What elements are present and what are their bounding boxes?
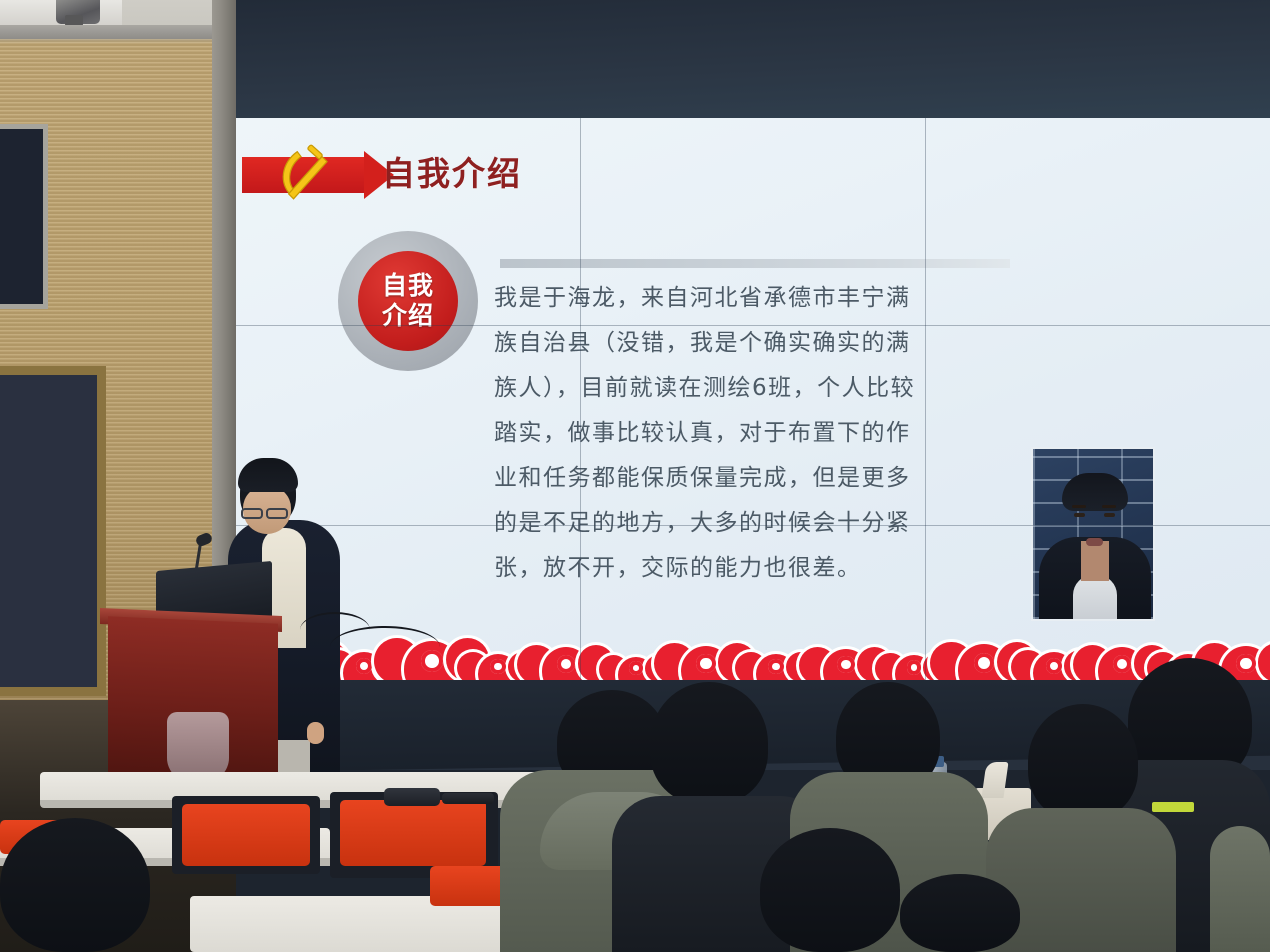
audience-member-3-body	[612, 796, 828, 952]
ceiling-trim	[0, 25, 212, 39]
audience-member-7	[760, 828, 900, 952]
badge-label-line1: 自我	[382, 271, 434, 301]
desk	[190, 896, 520, 952]
chair-back	[340, 800, 486, 866]
cloud-spiral	[1236, 654, 1255, 673]
water-bottle	[925, 762, 947, 824]
cloud-spiral	[490, 659, 505, 674]
self-intro-badge: 自我 介绍	[338, 231, 478, 371]
body-line: 业和任务都能保质保量完成，但是更多	[494, 456, 1034, 501]
wall-panel-lower	[0, 366, 106, 696]
body-line: 的是不足的地方，大多的时候会十分紧	[494, 501, 1034, 546]
slide-divider	[500, 259, 1010, 268]
cloud-decoration-band	[236, 612, 1270, 680]
cloud-spiral	[629, 661, 643, 675]
cloud-spiral	[768, 659, 783, 674]
cloud-spiral	[974, 653, 994, 673]
jacket-label-tag	[1152, 802, 1194, 812]
portrait-eyebrow-right	[1102, 505, 1116, 508]
body-line: 族人），目前就读在测绘6班，个人比较	[494, 366, 1034, 411]
hammer-and-sickle-emblem	[270, 143, 332, 205]
audience-member-4-body	[790, 772, 988, 952]
cloud-spiral	[356, 658, 372, 674]
badge-inner-circle: 自我 介绍	[358, 251, 458, 351]
audience-member-2-body	[500, 770, 736, 952]
ceiling-speaker-icon	[56, 0, 100, 24]
dark-device-accessory	[442, 793, 494, 804]
audience-member-9	[1210, 826, 1270, 952]
portrait-eyebrow-left	[1072, 505, 1086, 508]
wall-column	[212, 0, 236, 770]
audience-member-5-body	[1092, 760, 1270, 952]
portrait-eye-left	[1074, 513, 1085, 517]
cloud-spiral	[286, 653, 306, 673]
cloud-spiral	[1180, 659, 1195, 674]
paper-item	[975, 788, 1031, 840]
badge-label-line2: 介绍	[382, 301, 434, 331]
video-wall-top-bezel	[236, 0, 1270, 128]
panel-seam-horizontal-2	[236, 525, 1270, 526]
wall-panel-upper	[0, 124, 48, 309]
chair-back	[430, 866, 526, 906]
cloud-spiral	[696, 654, 715, 673]
presentation-slide: 自我介绍 自我 介绍 我是于海龙，来自河北省承德市丰宁满 族自治县（没错，我是个…	[236, 118, 1270, 680]
portrait-mouth	[1086, 538, 1103, 546]
body-line: 我是于海龙，来自河北省承德市丰宁满	[494, 276, 1034, 321]
presenter-portrait-photo	[1031, 447, 1155, 621]
portrait-eye-right	[1104, 513, 1115, 517]
cloud-spiral	[837, 656, 855, 674]
body-line: 张，放不开，交际的能力也很差。	[494, 546, 1034, 591]
led-video-wall: 自我介绍 自我 介绍 我是于海龙，来自河北省承德市丰宁满 族自治县（没错，我是个…	[236, 0, 1270, 770]
panel-seam-vertical-2	[925, 118, 926, 680]
cloud-spiral	[421, 650, 443, 672]
audience-hood	[540, 792, 700, 870]
slide-body-text: 我是于海龙，来自河北省承德市丰宁满 族自治县（没错，我是个确实确实的满 族人），…	[494, 276, 1034, 591]
panel-seam-horizontal-1	[236, 325, 1270, 326]
body-line: 族自治县（没错，我是个确实确实的满	[494, 321, 1034, 366]
audience-member-8	[900, 874, 1020, 952]
presentation-scene: 自我介绍 自我 介绍 我是于海龙，来自河北省承德市丰宁满 族自治县（没错，我是个…	[0, 0, 1270, 952]
audience-member-6-body	[986, 808, 1176, 952]
page-title: 自我介绍	[382, 147, 522, 195]
chair-frame	[330, 792, 498, 878]
cloud-spiral	[1046, 658, 1062, 674]
slide-title-banner: 自我介绍	[242, 149, 602, 201]
body-line: 踏实，做事比较认真，对于布置下的作	[494, 411, 1034, 456]
left-foreground-shadow	[0, 700, 236, 952]
dark-device-on-desk	[384, 788, 440, 806]
panel-seam-vertical-1	[580, 118, 581, 680]
cloud-spiral	[907, 660, 921, 674]
